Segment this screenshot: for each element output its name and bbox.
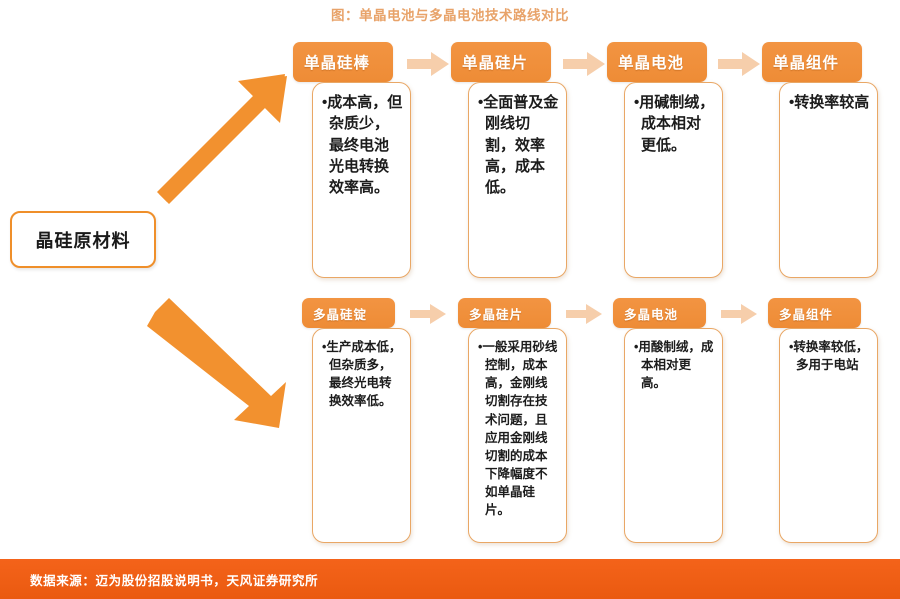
stage-card-mono-2: •用碱制绒，成本相对更低。 bbox=[624, 82, 723, 278]
stage-card-poly-3: •转换率较低，多用于电站 bbox=[779, 328, 878, 543]
stage-card-mono-0: •成本高，但杂质少，最终电池光电转换效率高。 bbox=[312, 82, 411, 278]
source-text: 数据来源：迈为股份招股说明书，天风证券研究所 bbox=[30, 570, 318, 589]
connector-arrow-poly-2-icon bbox=[721, 304, 757, 324]
stage-card-text: •用碱制绒，成本相对更低。 bbox=[634, 92, 715, 156]
stage-tab-label: 多晶硅锭 bbox=[313, 304, 367, 323]
stage-tab-label: 单晶电池 bbox=[618, 51, 684, 73]
stage-tab-mono-2[interactable]: 单晶电池 bbox=[607, 42, 707, 82]
stage-tab-label: 单晶组件 bbox=[773, 51, 839, 73]
flow-arrow-down-icon bbox=[145, 292, 305, 432]
stage-tab-poly-3[interactable]: 多晶组件 bbox=[768, 298, 861, 328]
stage-tab-label: 单晶硅片 bbox=[462, 51, 528, 73]
stage-card-text: •转换率较高 bbox=[789, 92, 870, 113]
source-bar: 数据来源：迈为股份招股说明书，天风证券研究所 bbox=[0, 559, 900, 599]
stage-card-text: •生产成本低，但杂质多，最终光电转换效率低。 bbox=[322, 338, 403, 411]
stage-card-poly-2: •用酸制绒，成本相对更高。 bbox=[624, 328, 723, 543]
stage-card-text: •成本高，但杂质少，最终电池光电转换效率高。 bbox=[322, 92, 403, 198]
stage-tab-label: 单晶硅棒 bbox=[304, 51, 370, 73]
stage-card-text: •一般采用砂线控制，成本高，金刚线切割存在技术问题，且应用金刚线切割的成本下降幅… bbox=[478, 338, 559, 519]
stage-card-text: •用酸制绒，成本相对更高。 bbox=[634, 338, 715, 392]
connector-arrow-poly-1-icon bbox=[566, 304, 602, 324]
stage-tab-poly-2[interactable]: 多晶电池 bbox=[613, 298, 706, 328]
connector-arrow-mono-0-icon bbox=[407, 52, 449, 76]
stage-card-text: •转换率较低，多用于电站 bbox=[789, 338, 870, 374]
stage-tab-label: 多晶硅片 bbox=[469, 304, 523, 323]
connector-arrow-poly-0-icon bbox=[410, 304, 446, 324]
stage-tab-poly-0[interactable]: 多晶硅锭 bbox=[302, 298, 395, 328]
stage-card-text: •全面普及金刚线切割，效率高，成本低。 bbox=[478, 92, 559, 198]
stage-card-poly-0: •生产成本低，但杂质多，最终光电转换效率低。 bbox=[312, 328, 411, 543]
stage-tab-poly-1[interactable]: 多晶硅片 bbox=[458, 298, 551, 328]
page-title: 图：单晶电池与多晶电池技术路线对比 bbox=[0, 4, 900, 24]
connector-arrow-mono-2-icon bbox=[718, 52, 760, 76]
stage-tab-mono-1[interactable]: 单晶硅片 bbox=[451, 42, 551, 82]
stage-tab-mono-3[interactable]: 单晶组件 bbox=[762, 42, 862, 82]
stage-tab-label: 多晶电池 bbox=[624, 304, 678, 323]
stage-card-poly-1: •一般采用砂线控制，成本高，金刚线切割存在技术问题，且应用金刚线切割的成本下降幅… bbox=[468, 328, 567, 543]
stage-tab-label: 多晶组件 bbox=[779, 304, 833, 323]
flow-arrow-up-icon bbox=[145, 60, 295, 210]
stage-card-mono-1: •全面普及金刚线切割，效率高，成本低。 bbox=[468, 82, 567, 278]
diagram-canvas: 图：单晶电池与多晶电池技术路线对比 晶硅原材料 单晶硅棒 单晶硅片 单晶电池 单… bbox=[0, 0, 900, 599]
connector-arrow-mono-1-icon bbox=[563, 52, 605, 76]
stage-tab-mono-0[interactable]: 单晶硅棒 bbox=[293, 42, 393, 82]
raw-material-label: 晶硅原材料 bbox=[36, 227, 131, 253]
raw-material-box: 晶硅原材料 bbox=[10, 211, 156, 268]
stage-card-mono-3: •转换率较高 bbox=[779, 82, 878, 278]
